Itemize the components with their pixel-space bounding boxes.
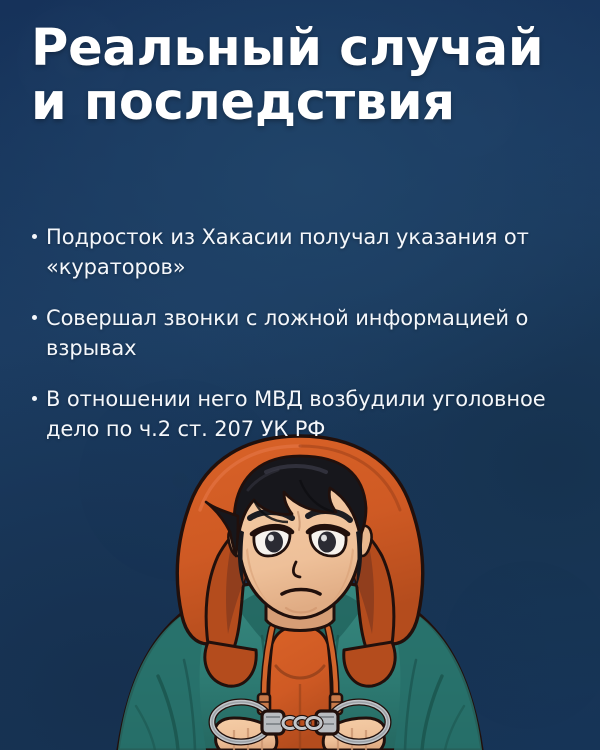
list-item-text: Подросток из Хакасии получал указания от… <box>46 225 529 279</box>
poster-canvas: Реальный случай и последствия Подросток … <box>0 0 600 750</box>
bullet-dot-icon <box>32 315 37 320</box>
list-item-text: Совершал звонки с ложной информацией о в… <box>46 306 528 360</box>
list-item: Совершал звонки с ложной информацией о в… <box>31 303 579 363</box>
list-item: Подросток из Хакасии получал указания от… <box>31 222 579 282</box>
page-title: Реальный случай и последствия <box>31 22 571 130</box>
bullet-dot-icon <box>32 234 37 239</box>
page-title-line-1: Реальный случай <box>31 22 571 76</box>
illustration-boy-in-handcuffs <box>0 430 600 750</box>
list-item: В отношении него МВД возбудили уголовное… <box>31 384 579 444</box>
bullet-dot-icon <box>32 396 37 401</box>
page-title-line-2: и последствия <box>31 76 571 130</box>
list-item-text: В отношении него МВД возбудили уголовное… <box>46 387 546 441</box>
bullet-list: Подросток из Хакасии получал указания от… <box>31 222 579 444</box>
